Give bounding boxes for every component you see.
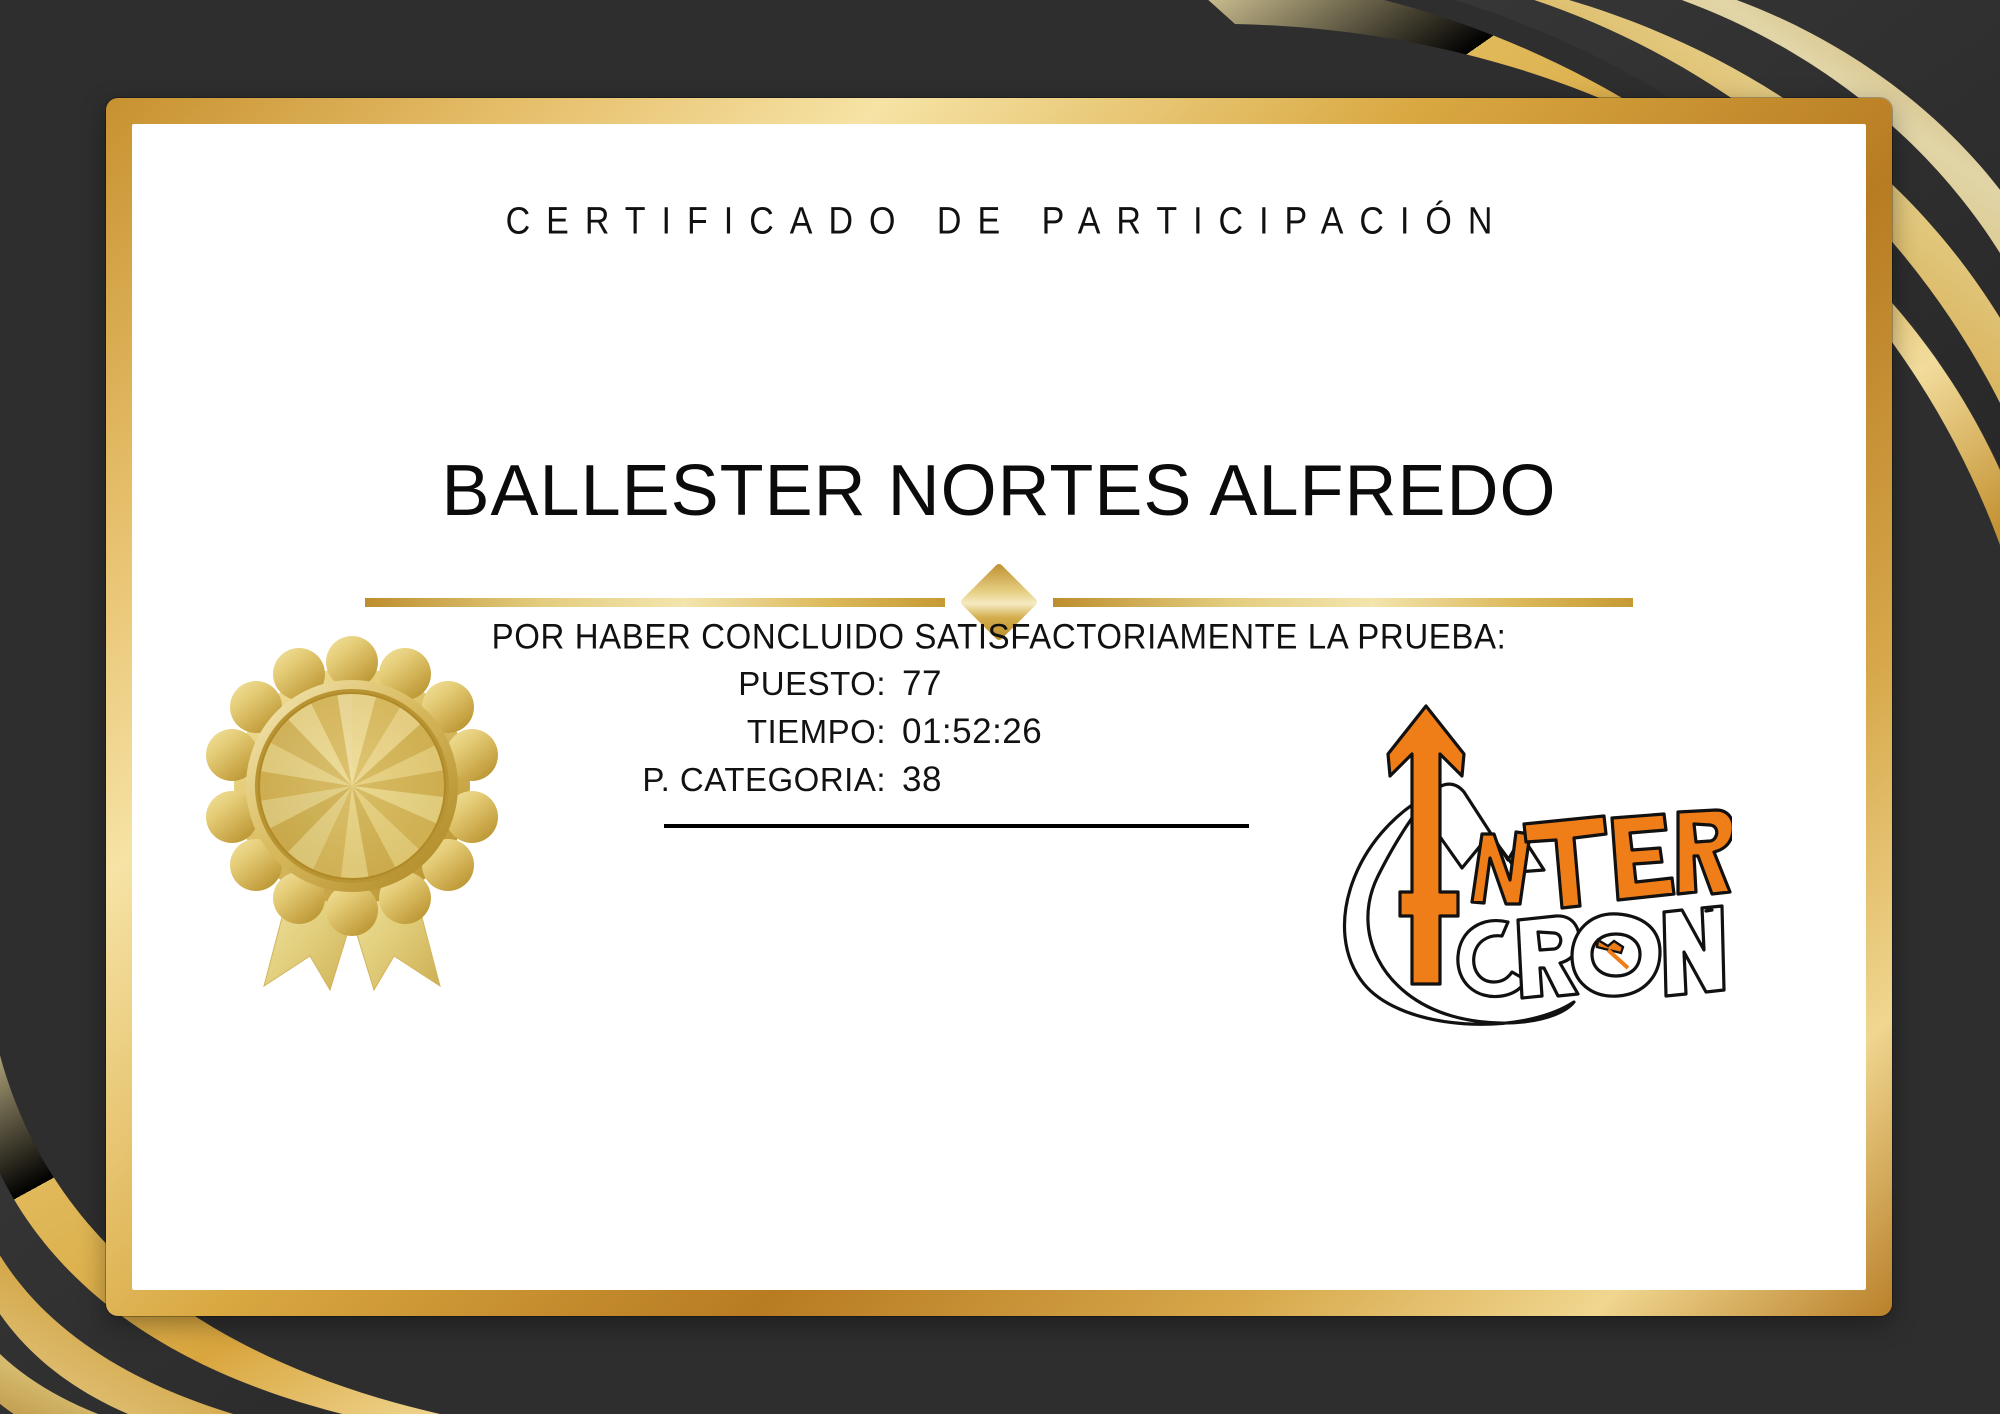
recipient-name: BALLESTER NORTES ALFREDO (132, 450, 1866, 532)
results-block: PUESTO: 77 TIEMPO: 01:52:26 P. CATEGORIA… (542, 664, 1262, 828)
result-label-tiempo: TIEMPO: (542, 713, 902, 751)
result-label-categoria: P. CATEGORIA: (542, 761, 902, 799)
intercrono-logo-icon: .lo-orange{fill:#F07E18;stroke:#111;stro… (1312, 684, 1732, 1034)
result-value-puesto: 77 (902, 664, 942, 704)
result-value-categoria: 38 (902, 760, 942, 800)
result-label-puesto: PUESTO: (542, 665, 902, 703)
certificate-kicker: CERTIFICADO DE PARTICIPACIÓN (132, 200, 1866, 244)
result-row: PUESTO: 77 (542, 664, 1262, 704)
signature-line (664, 824, 1249, 828)
divider-bar-right (1053, 598, 1633, 607)
result-value-tiempo: 01:52:26 (902, 712, 1042, 752)
certificate-paper: CERTIFICADO DE PARTICIPACIÓN BALLESTER N… (132, 124, 1866, 1290)
certificate-canvas: CERTIFICADO DE PARTICIPACIÓN BALLESTER N… (0, 0, 2000, 1414)
result-row: P. CATEGORIA: 38 (542, 760, 1262, 800)
certificate-frame: CERTIFICADO DE PARTICIPACIÓN BALLESTER N… (106, 98, 1892, 1316)
divider-bar-left (365, 598, 945, 607)
result-row: TIEMPO: 01:52:26 (542, 712, 1262, 752)
award-rosette-icon (202, 634, 502, 994)
